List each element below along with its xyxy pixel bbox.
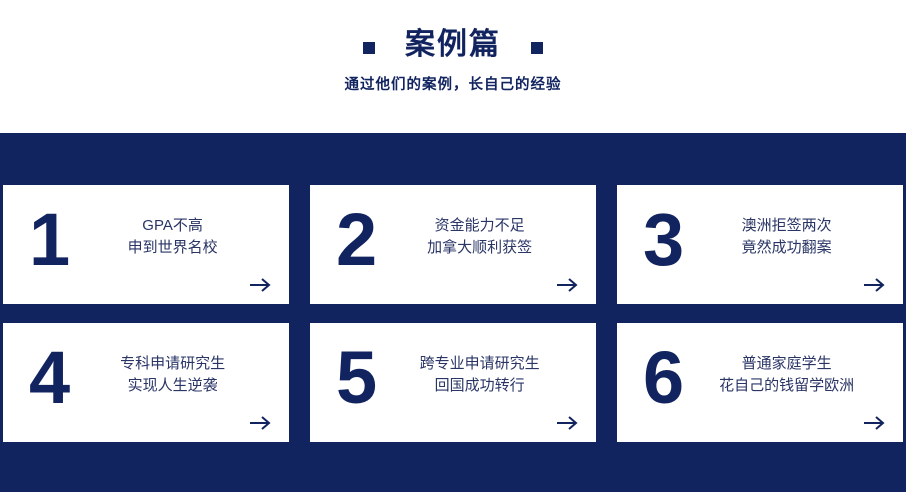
case-text-line-2: 回国成功转行 (381, 375, 578, 397)
case-text-line-2: 申到世界名校 (74, 237, 271, 259)
case-number: 1 (3, 203, 74, 277)
case-card-3[interactable]: 3 澳洲拒签两次 竟然成功翻案 (617, 185, 903, 304)
case-card-4[interactable]: 4 专科申请研究生 实现人生逆袭 (3, 323, 289, 442)
square-bullet-right-icon (531, 42, 543, 54)
case-text-line-1: GPA不高 (74, 215, 271, 237)
case-text-line-1: 普通家庭学生 (688, 353, 885, 375)
arrow-right-icon[interactable] (863, 412, 887, 434)
case-number: 5 (310, 341, 381, 415)
case-text-line-2: 竟然成功翻案 (688, 237, 885, 259)
page-subtitle: 通过他们的案例，长自己的经验 (345, 76, 562, 94)
case-text: 跨专业申请研究生 回国成功转行 (381, 353, 596, 397)
case-text-line-1: 资金能力不足 (381, 215, 578, 237)
case-text-line-2: 加拿大顺利获签 (381, 237, 578, 259)
case-number: 6 (617, 341, 688, 415)
case-number: 3 (617, 203, 688, 277)
arrow-right-icon[interactable] (556, 412, 580, 434)
case-number: 2 (310, 203, 381, 277)
case-card-6[interactable]: 6 普通家庭学生 花自己的钱留学欧洲 (617, 323, 903, 442)
cases-panel: 1 GPA不高 申到世界名校 2 资金能力不足 加拿大顺利获签 (0, 133, 906, 492)
case-card-5[interactable]: 5 跨专业申请研究生 回国成功转行 (310, 323, 596, 442)
page-header: 案例篇 通过他们的案例，长自己的经验 (0, 0, 906, 133)
case-text: 资金能力不足 加拿大顺利获签 (381, 215, 596, 259)
case-card-1[interactable]: 1 GPA不高 申到世界名校 (3, 185, 289, 304)
case-text-line-2: 实现人生逆袭 (74, 375, 271, 397)
case-number: 4 (3, 341, 74, 415)
title-row: 案例篇 (363, 28, 543, 62)
case-text: GPA不高 申到世界名校 (74, 215, 289, 259)
case-text-line-1: 跨专业申请研究生 (381, 353, 578, 375)
arrow-right-icon[interactable] (556, 274, 580, 296)
case-text-line-1: 专科申请研究生 (74, 353, 271, 375)
case-text: 专科申请研究生 实现人生逆袭 (74, 353, 289, 397)
case-text: 普通家庭学生 花自己的钱留学欧洲 (688, 353, 903, 397)
case-text: 澳洲拒签两次 竟然成功翻案 (688, 215, 903, 259)
arrow-right-icon[interactable] (249, 274, 273, 296)
arrow-right-icon[interactable] (249, 412, 273, 434)
cases-grid: 1 GPA不高 申到世界名校 2 资金能力不足 加拿大顺利获签 (3, 185, 903, 442)
case-text-line-2: 花自己的钱留学欧洲 (688, 375, 885, 397)
case-text-line-1: 澳洲拒签两次 (688, 215, 885, 237)
page-title: 案例篇 (405, 28, 501, 62)
arrow-right-icon[interactable] (863, 274, 887, 296)
square-bullet-left-icon (363, 42, 375, 54)
case-card-2[interactable]: 2 资金能力不足 加拿大顺利获签 (310, 185, 596, 304)
